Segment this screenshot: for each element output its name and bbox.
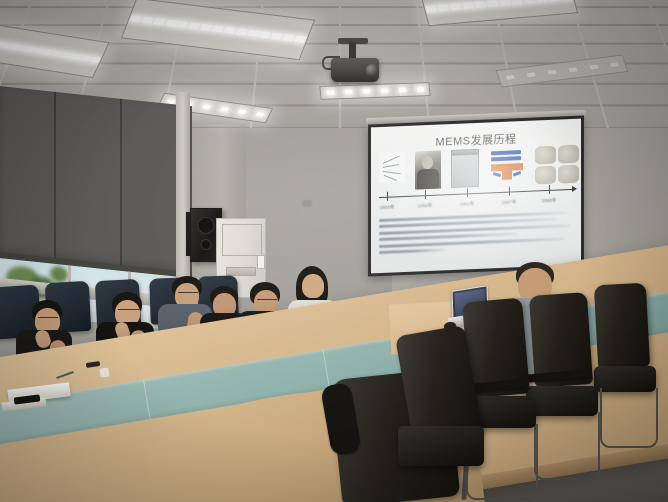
projector-lens-icon bbox=[366, 64, 378, 76]
ceiling-tile bbox=[601, 105, 668, 128]
slide-image-sketch bbox=[379, 152, 405, 183]
ceiling-tile bbox=[340, 0, 418, 7]
ceiling-tile bbox=[419, 25, 502, 44]
window-roller-blind[interactable] bbox=[0, 86, 192, 278]
ceiling-tile bbox=[595, 84, 668, 106]
ceiling-tile bbox=[340, 7, 419, 25]
ceiling-tile bbox=[262, 0, 340, 7]
door-handle-icon[interactable] bbox=[257, 255, 265, 269]
window-post bbox=[176, 91, 190, 302]
conference-room-photo: MEMS发展历程 bbox=[0, 0, 668, 502]
projection-screen: MEMS发展历程 bbox=[368, 115, 584, 276]
slide-image-device bbox=[451, 149, 479, 188]
ceiling-tile bbox=[499, 25, 584, 44]
ceiling-tile bbox=[578, 25, 665, 44]
timeline-label-1: 1954年 bbox=[380, 204, 395, 211]
ceiling-tile bbox=[573, 7, 658, 25]
ceiling-tile bbox=[568, 0, 651, 7]
cup[interactable] bbox=[99, 367, 109, 377]
ceiling-tile bbox=[29, 0, 112, 7]
slide-body-text bbox=[379, 211, 573, 257]
slide-image-row bbox=[377, 145, 575, 193]
slide-image-wafers bbox=[535, 145, 579, 185]
timeline-label-2: 1959年 bbox=[418, 203, 433, 210]
ceiling-tile bbox=[421, 44, 506, 64]
slide-image-portrait bbox=[415, 150, 441, 189]
wall-mark bbox=[302, 200, 312, 207]
slide-surface: MEMS发展历程 bbox=[371, 119, 581, 274]
ceiling-tile bbox=[23, 7, 108, 25]
slide-image-chip-diagram bbox=[489, 147, 525, 185]
timeline-label-4: 1967年 bbox=[502, 199, 517, 206]
slide-timeline-arrow-icon bbox=[572, 186, 577, 192]
ceiling-tile bbox=[510, 84, 601, 106]
timeline-label-3: 1961年 bbox=[460, 201, 475, 208]
ceiling-tile bbox=[170, 63, 257, 84]
timeline-label-5: 1968年 bbox=[542, 198, 557, 205]
